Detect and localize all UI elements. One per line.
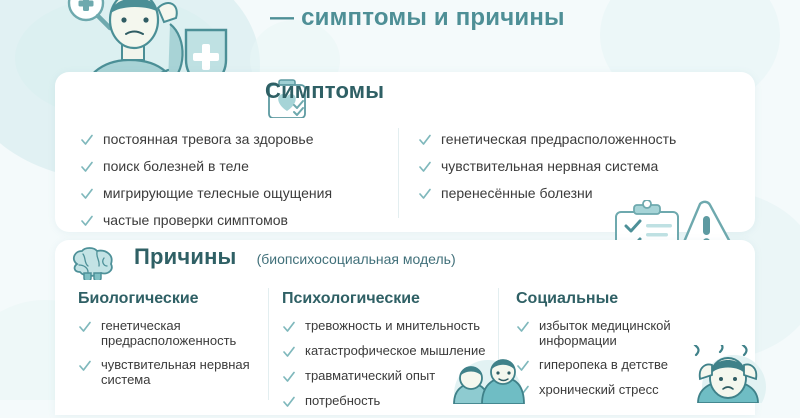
stressed-woman-illustration (676, 345, 786, 403)
list-item: тревожность и мнительность (282, 318, 494, 334)
list-item-label: частые проверки симптомов (103, 212, 288, 228)
symptoms-heading: Симптомы (265, 78, 384, 104)
symptoms-section-header: Симптомы (265, 78, 384, 104)
list-item: генетическая предрасположенность (418, 131, 718, 147)
list-item: чувствительная нервная система (418, 158, 718, 174)
check-icon (80, 133, 94, 147)
check-icon (282, 345, 296, 359)
list-item-label: генетическая предрасположенность (101, 318, 258, 348)
list-item-label: генетическая предрасположенность (441, 131, 676, 147)
check-icon (78, 320, 92, 334)
list-item-label: мигрирующие телесные ощущения (103, 185, 332, 201)
check-icon (78, 359, 92, 373)
list-item-label: перенесённые болезни (441, 185, 593, 201)
list-item: перенесённые болезни (418, 185, 718, 201)
list-item: поиск болезней в теле (80, 158, 380, 174)
page-title: — симптомы и причины (270, 4, 700, 32)
list-item-label: постоянная тревога за здоровье (103, 131, 314, 147)
list-item-label: потребность (305, 393, 380, 408)
column-title: Социальные (516, 290, 716, 308)
causes-heading: Причины (134, 244, 237, 270)
list-item: генетическая предрасположенность (78, 318, 258, 348)
column-title: Биологические (78, 290, 258, 308)
list-item-label: поиск болезней в теле (103, 158, 249, 174)
check-icon (80, 160, 94, 174)
check-icon (418, 133, 432, 147)
check-icon (418, 160, 432, 174)
check-icon (418, 187, 432, 201)
list-item: избыток медицинской информации (516, 318, 716, 348)
symptoms-list-left: постоянная тревога за здоровье поиск бол… (80, 131, 380, 239)
list-item-label: тревожность и мнительность (305, 318, 480, 333)
list-item: мигрирующие телесные ощущения (80, 185, 380, 201)
couple-illustration (430, 358, 540, 404)
column-title: Психологические (282, 290, 494, 308)
causes-section-header: Причины (биопсихосоциальная модель) (70, 244, 456, 270)
causes-subtitle: (биопсихосоциальная модель) (257, 251, 456, 267)
list-item-label: травматический опыт (305, 368, 435, 383)
list-item: чувствительная нервная система (78, 357, 258, 387)
list-item-label: чувствительная нервная система (441, 158, 658, 174)
symptoms-column-divider (398, 128, 399, 218)
check-icon (282, 370, 296, 384)
check-icon (282, 395, 296, 409)
list-item: частые проверки симптомов (80, 212, 380, 228)
check-icon (80, 187, 94, 201)
causes-column-biological: Биологические генетическая предрасположе… (78, 290, 258, 396)
list-item: постоянная тревога за здоровье (80, 131, 380, 147)
list-item: катастрофическое мышление (282, 343, 494, 359)
check-icon (80, 214, 94, 228)
causes-column-divider (268, 288, 269, 400)
check-icon (516, 320, 530, 334)
list-item-label: избыток медицинской информации (539, 318, 716, 348)
list-item-label: чувствительная нервная система (101, 357, 258, 387)
list-item-label: хронический стресс (539, 382, 659, 397)
check-icon (282, 320, 296, 334)
list-item-label: гиперопека в детстве (539, 357, 668, 372)
list-item-label: катастрофическое мышление (305, 343, 485, 358)
